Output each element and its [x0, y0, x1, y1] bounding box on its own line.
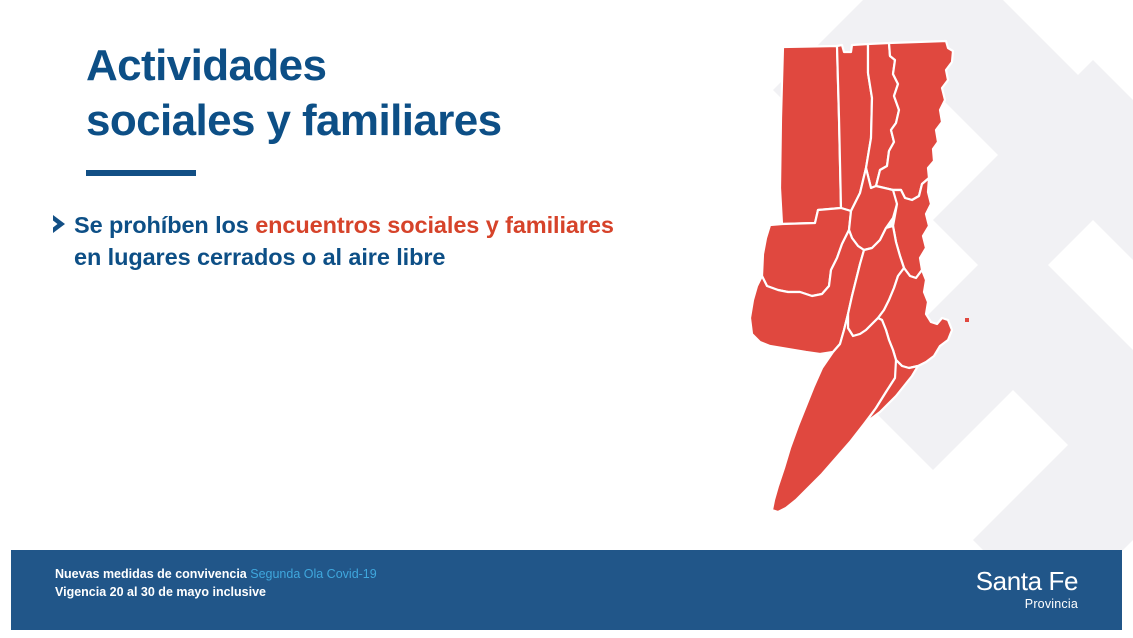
footer-text-block: Nuevas medidas de convivencia Segunda Ol…	[55, 566, 377, 602]
content-column: Actividades sociales y familiares Se pro…	[0, 0, 680, 545]
santa-fe-map	[690, 18, 1020, 528]
map-region-nw	[780, 46, 841, 224]
page-title: Actividades sociales y familiares	[86, 38, 646, 148]
slide-canvas: Actividades sociales y familiares Se pro…	[0, 0, 1133, 638]
footer-bar: Nuevas medidas de convivencia Segunda Ol…	[11, 550, 1122, 630]
chevron-right-glyph	[50, 213, 70, 235]
map-region-island-dot	[965, 318, 969, 322]
map-svg	[690, 18, 1020, 528]
logo-brand-text: Santa Fe	[976, 568, 1078, 595]
page-title-line-1: Actividades	[86, 38, 646, 93]
santa-fe-logo: Santa Fe Provincia	[976, 568, 1078, 612]
bullet-text-highlight: encuentros sociales y familiares	[255, 212, 614, 238]
footer-line-1: Nuevas medidas de convivencia Segunda Ol…	[55, 566, 377, 584]
chevron-right-icon	[50, 213, 74, 239]
footer-line-2: Vigencia 20 al 30 de mayo inclusive	[55, 584, 377, 602]
footer-line-1-bold: Nuevas medidas de convivencia	[55, 567, 247, 581]
page-title-line-2: sociales y familiares	[86, 93, 646, 148]
footer-line-1-light: Segunda Ola Covid-19	[247, 567, 377, 581]
logo-sub-text: Provincia	[976, 597, 1078, 612]
title-divider	[86, 170, 196, 176]
bullet-text-part1: Se prohíben los	[74, 212, 255, 238]
bullet-text: Se prohíben los encuentros sociales y fa…	[74, 209, 630, 274]
bullet-text-part2: en lugares cerrados o al aire libre	[74, 244, 445, 270]
bullet-item: Se prohíben los encuentros sociales y fa…	[50, 209, 630, 274]
